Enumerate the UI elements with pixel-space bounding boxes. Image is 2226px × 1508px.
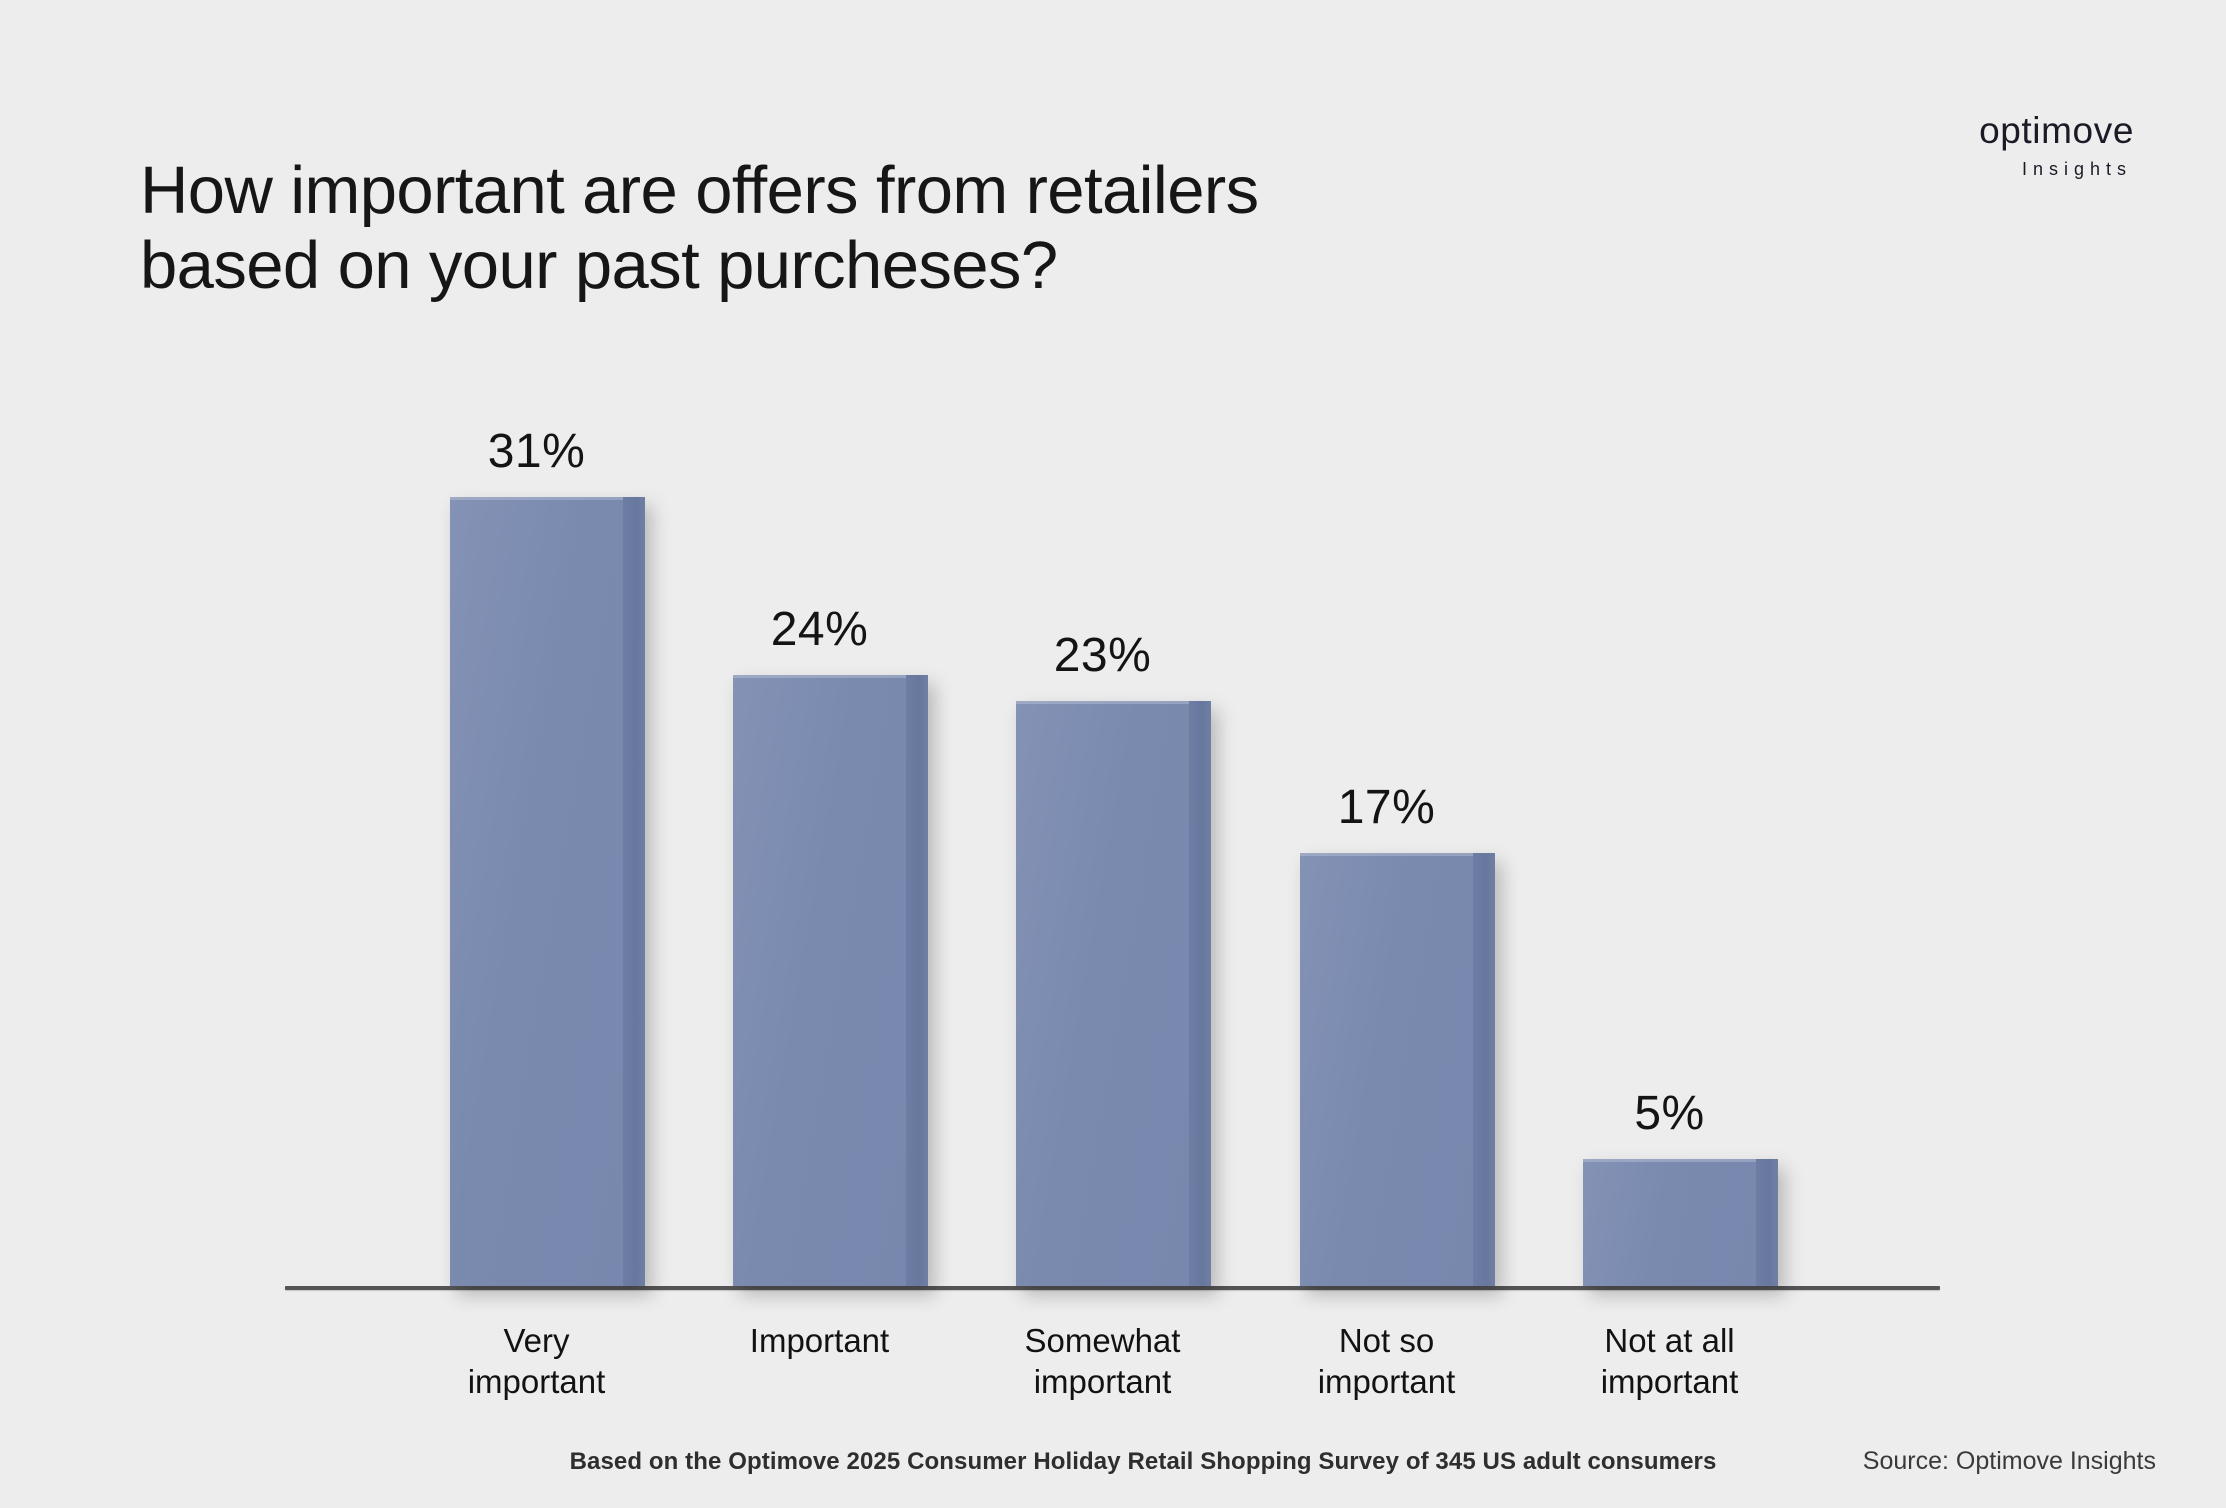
bar-2: 24%: [733, 675, 928, 1286]
bar-value-label: 17%: [1300, 780, 1473, 853]
bar-3: 23%: [1016, 701, 1211, 1286]
bar-front-face: [450, 497, 623, 1286]
bar-front-face: [1583, 1159, 1756, 1286]
bar-shape: [1300, 853, 1495, 1286]
slide-canvas: How important are offers from retailers …: [0, 0, 2226, 1508]
bar-top-highlight: [1300, 853, 1473, 856]
bar-side-face: [1756, 1159, 1778, 1286]
bar-front-face: [1300, 853, 1473, 1286]
bar-4: 17%: [1300, 853, 1495, 1286]
bar-front-face: [733, 675, 906, 1286]
bar-top-highlight: [1016, 701, 1189, 704]
category-label-1: Very important: [450, 1320, 623, 1403]
bar-1: 31%: [450, 497, 645, 1286]
bar-5: 5%: [1583, 1159, 1778, 1286]
bar-value-label: 23%: [1016, 628, 1189, 701]
bar-top-highlight: [450, 497, 623, 500]
bar-shape: [1016, 701, 1211, 1286]
category-label-5: Not at all important: [1583, 1320, 1756, 1403]
category-label-3: Somewhat important: [1016, 1320, 1189, 1403]
bar-value-label: 5%: [1583, 1086, 1756, 1159]
bar-shape: [450, 497, 645, 1286]
bar-side-face: [1473, 853, 1495, 1286]
category-label-4: Not so important: [1300, 1320, 1473, 1403]
category-label-2: Important: [733, 1320, 906, 1361]
bar-top-highlight: [733, 675, 906, 678]
bar-side-face: [1189, 701, 1211, 1286]
bar-side-face: [906, 675, 928, 1286]
bar-side-face: [623, 497, 645, 1286]
x-axis-line: [285, 1286, 1940, 1290]
bar-chart: 31%24%23%17%5% Very importantImportantSo…: [0, 0, 2226, 1508]
bar-value-label: 31%: [450, 424, 623, 497]
bar-front-face: [1016, 701, 1189, 1286]
bar-top-highlight: [1583, 1159, 1756, 1162]
source-label: Source: Optimove Insights: [1863, 1447, 2156, 1476]
bar-value-label: 24%: [733, 602, 906, 675]
bar-shape: [733, 675, 928, 1286]
bar-shape: [1583, 1159, 1778, 1286]
